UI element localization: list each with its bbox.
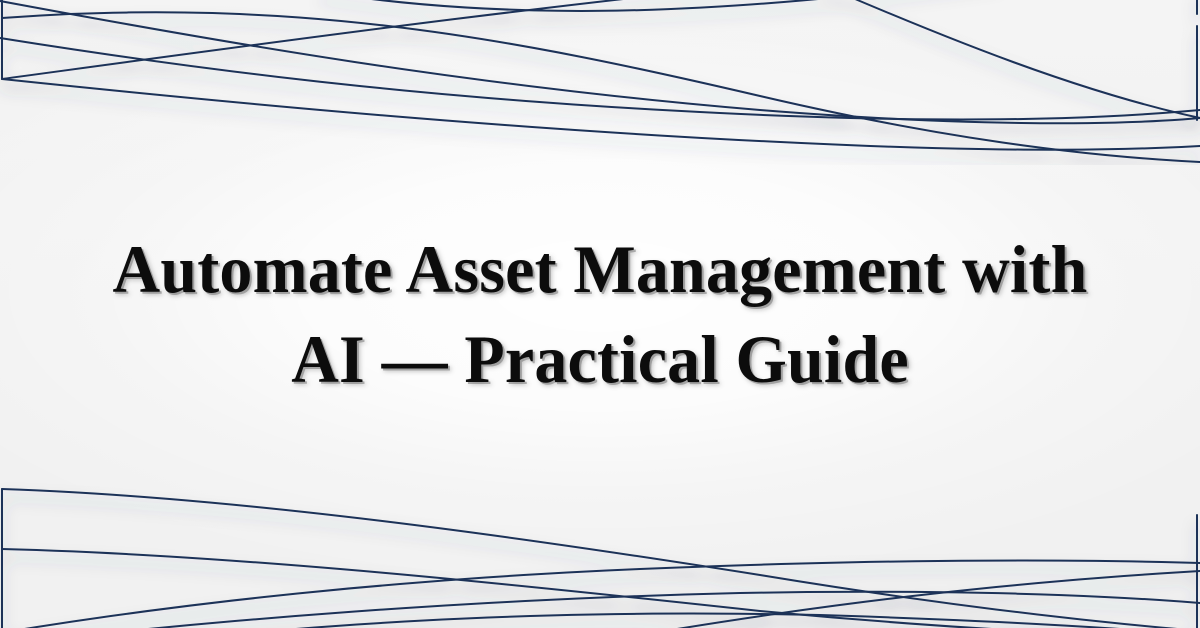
title-container: Automate Asset Management with AI — Prac… <box>0 0 1200 628</box>
page-title: Automate Asset Management with AI — Prac… <box>111 224 1089 405</box>
og-card: Automate Asset Management with AI — Prac… <box>0 0 1200 628</box>
